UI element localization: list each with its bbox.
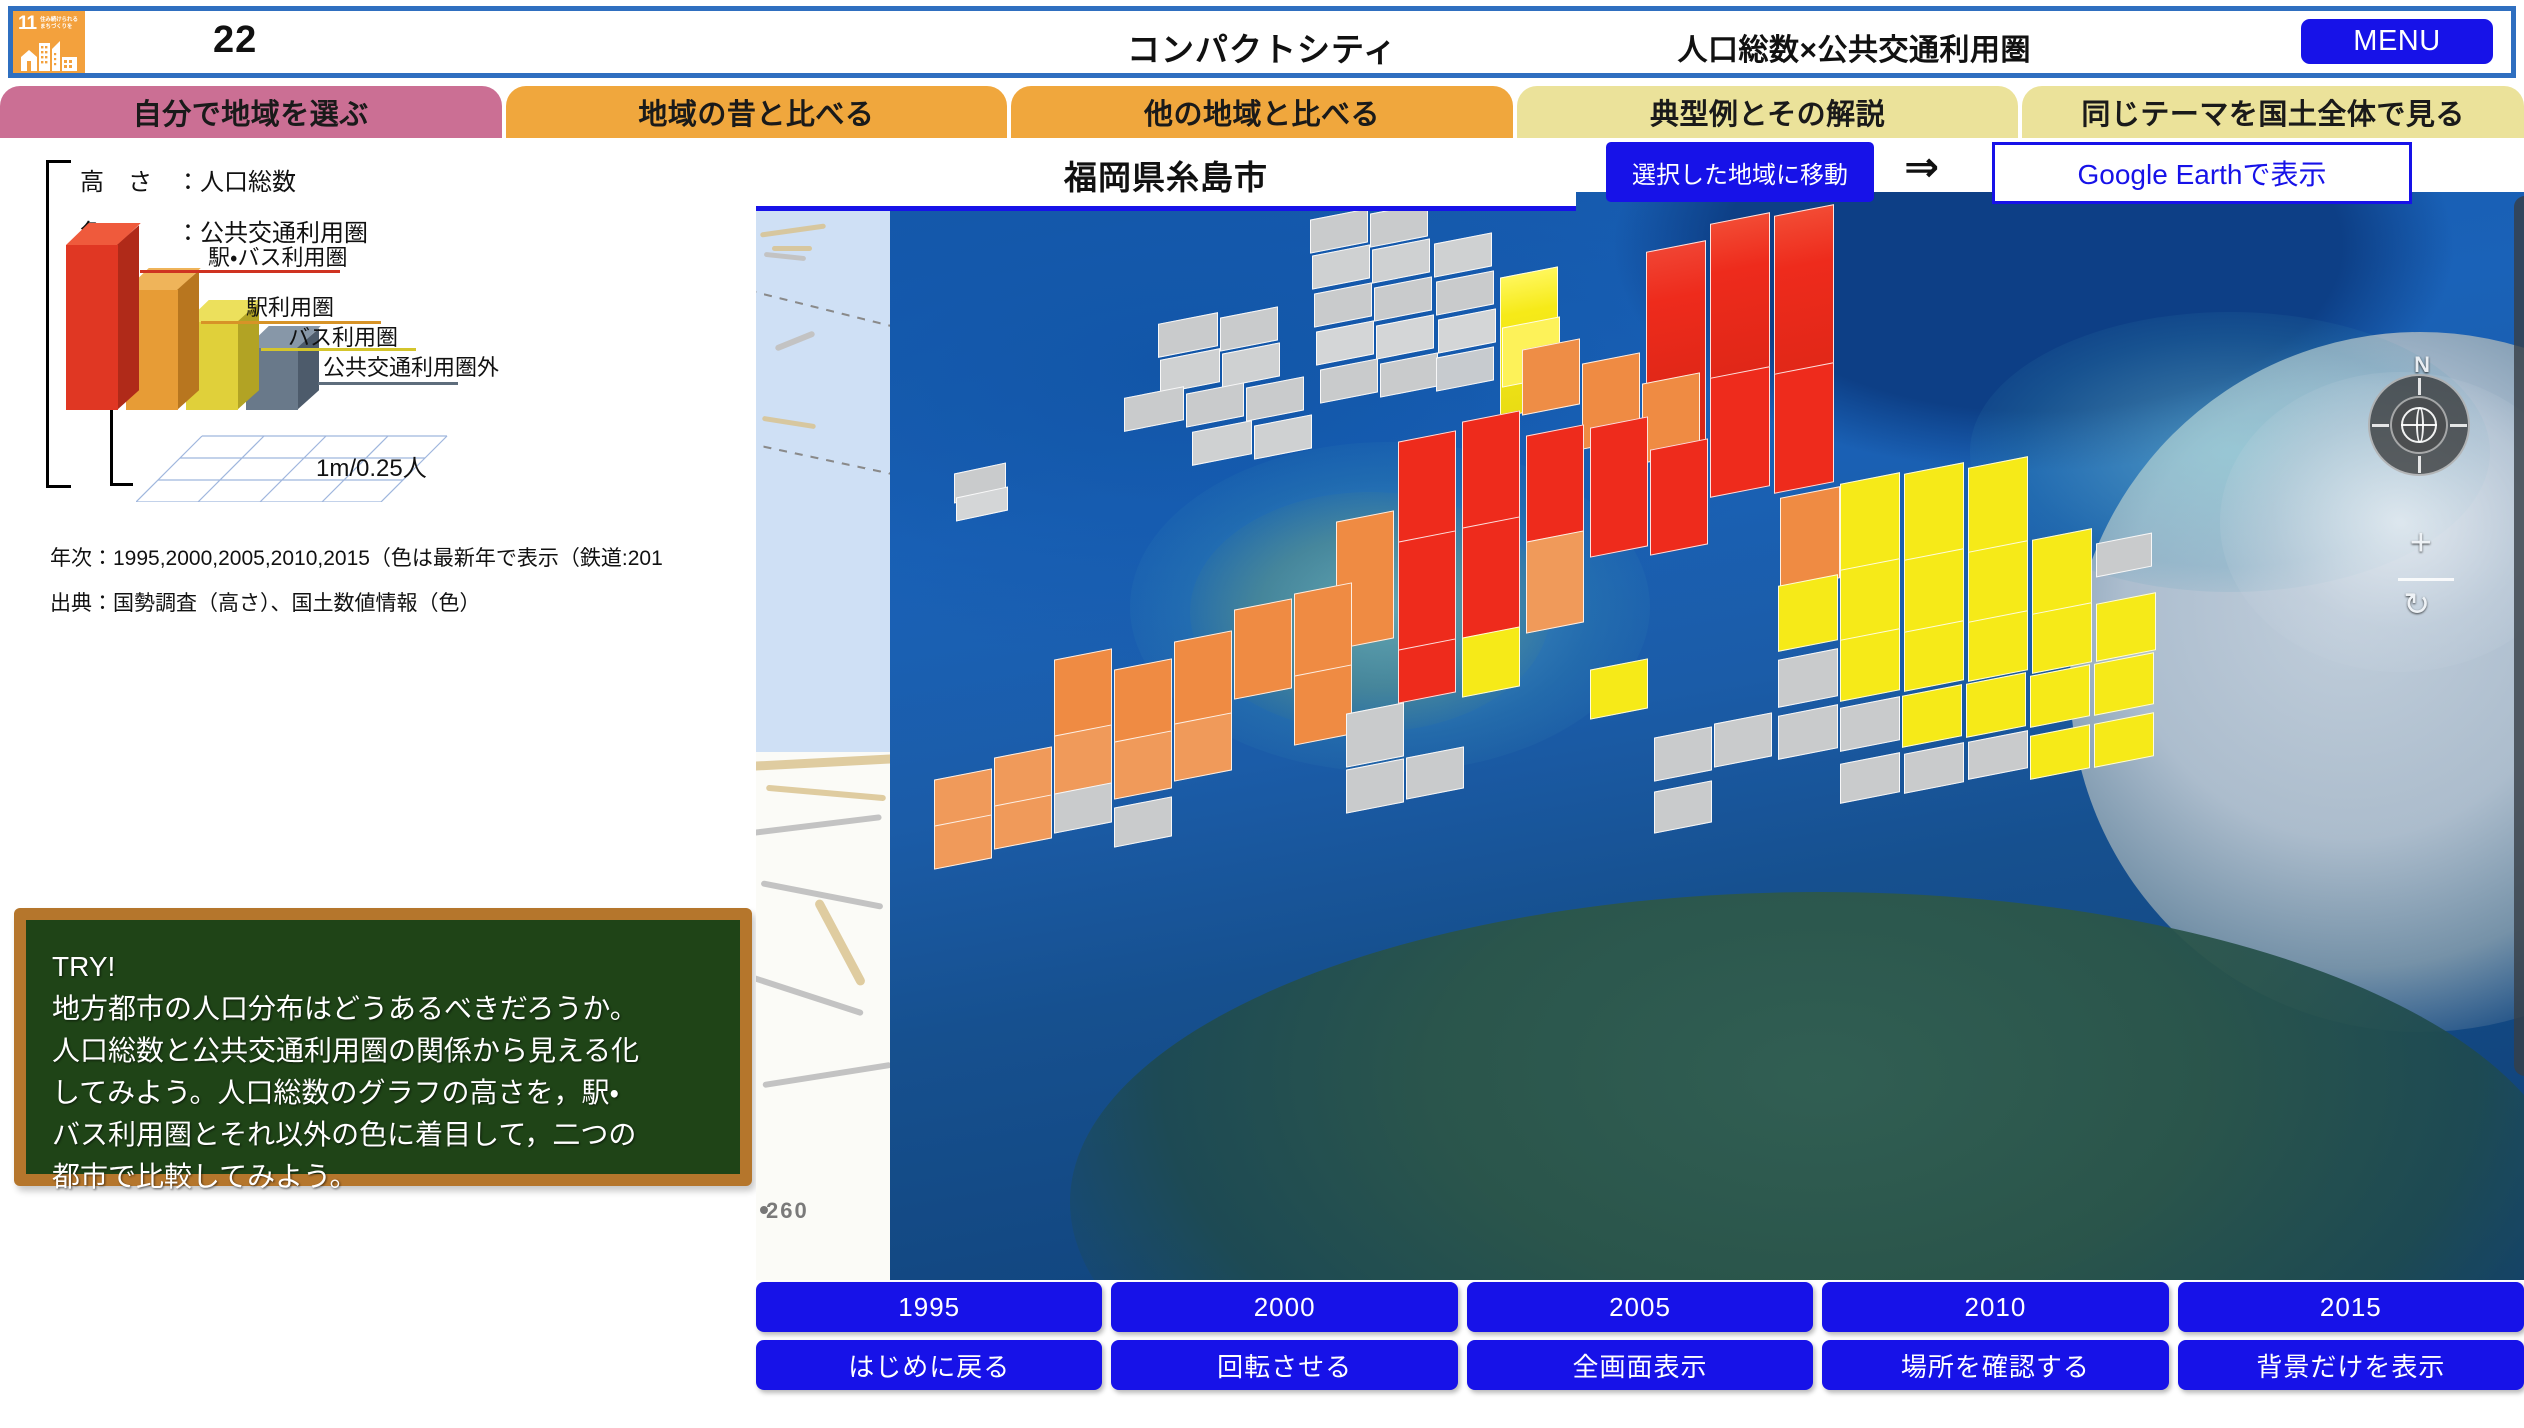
compass-globe-icon [2401, 407, 2437, 443]
population-cell[interactable] [1714, 712, 1772, 767]
map-area: 福岡県糸島市 選択した地域に移動 ⇒ Google Earthで表示 [756, 140, 2524, 1280]
compass-control[interactable] [2368, 374, 2470, 476]
population-cell[interactable] [1398, 638, 1456, 703]
map-scrollbar-thumb[interactable] [2514, 196, 2524, 1076]
population-cell[interactable] [1780, 486, 1840, 590]
population-cell[interactable] [1650, 438, 1708, 555]
topographic-map-strip: 260 [756, 192, 890, 1280]
year-button-2005[interactable]: 2005 [1467, 1282, 1813, 1332]
check-location-button[interactable]: 場所を確認する [1822, 1340, 2168, 1390]
population-cell[interactable] [1246, 376, 1304, 421]
year-button-2010[interactable]: 2010 [1822, 1282, 2168, 1332]
year-button-2000[interactable]: 2000 [1111, 1282, 1457, 1332]
earth-viewport[interactable]: 260 [756, 192, 2524, 1280]
population-cell[interactable] [1654, 780, 1712, 833]
population-cell[interactable] [1902, 684, 1962, 748]
population-cell[interactable] [1314, 282, 1372, 327]
topo-point-icon [760, 1206, 768, 1214]
app-root: 11 住み続けられる まちづくりを [0, 0, 2524, 1428]
compass-tick-w [2372, 424, 2389, 427]
google-earth-button[interactable]: Google Earthで表示 [1992, 142, 2412, 204]
year-button-1995[interactable]: 1995 [756, 1282, 1102, 1332]
population-cell[interactable] [1968, 730, 2028, 780]
population-cell[interactable] [1316, 320, 1374, 365]
map-toolbar: 福岡県糸島市 選択した地域に移動 ⇒ Google Earthで表示 [756, 140, 2524, 218]
population-cell[interactable] [1840, 628, 1900, 702]
population-cell[interactable] [1434, 232, 1492, 277]
population-cell[interactable] [1840, 696, 1900, 752]
legend-label-out: 公共交通利用圏外 [323, 350, 499, 382]
population-cell[interactable] [1114, 796, 1172, 847]
population-cell[interactable] [1774, 362, 1834, 494]
population-cell[interactable] [1590, 416, 1648, 557]
legend-3d-chart: 駅・バス利用圏 駅利用圏 バス利用圏 公共交通利用圏外 1m/0.25人 [18, 230, 760, 510]
population-cell[interactable] [1904, 620, 1964, 692]
population-cell[interactable] [1294, 664, 1352, 745]
goto-region-button[interactable]: 選択した地域に移動 [1606, 142, 1874, 202]
population-cell[interactable] [1376, 314, 1434, 359]
population-cell[interactable] [2096, 592, 2156, 662]
theme-title: 人口総数×公共交通利用圏 [1677, 25, 2031, 69]
population-cell[interactable] [1778, 574, 1838, 652]
map-scrollbar[interactable] [2514, 192, 2524, 1280]
legend-bar-station-bus [66, 245, 118, 410]
zoom-in-button[interactable]: + [2410, 524, 2432, 562]
page-title: コンパクトシティ [13, 23, 2511, 71]
zoom-slider-track[interactable] [2398, 578, 2454, 581]
satellite-imagery[interactable]: N + ↻ [890, 192, 2524, 1280]
fullscreen-button[interactable]: 全画面表示 [1467, 1340, 1813, 1390]
population-cell[interactable] [1526, 530, 1584, 633]
try-text: TRY! 地方都市の人口分布はどうあるべきだろうか。 人口総数と公共交通利用圏の… [52, 946, 714, 1198]
population-cell[interactable] [1192, 420, 1252, 466]
population-cell[interactable] [1966, 672, 2026, 738]
population-cell[interactable] [1462, 626, 1520, 697]
legend-block: 高 さ ：人口総数 色 ：公共交通利用圏 [18, 150, 760, 750]
population-cell[interactable] [2032, 602, 2092, 674]
population-cell[interactable] [1778, 648, 1838, 708]
population-cell[interactable] [1346, 702, 1404, 767]
population-cell[interactable] [1234, 598, 1292, 699]
scale-unit-label: 1m/0.25人 [316, 448, 427, 483]
reset-view-button[interactable]: ↻ [2403, 588, 2430, 620]
tab-select-region[interactable]: 自分で地域を選ぶ [0, 86, 502, 138]
tab-typical-example[interactable]: 典型例とその解説 [1517, 86, 2019, 138]
legend-panel: 高 さ ：人口総数 色 ：公共交通利用圏 [0, 140, 760, 1428]
population-cell[interactable] [1320, 358, 1378, 403]
app-header: 11 住み続けられる まちづくりを [8, 6, 2516, 78]
topo-road [774, 330, 815, 351]
population-cell[interactable] [1522, 338, 1580, 415]
tab-nationwide[interactable]: 同じテーマを国土全体で見る [2022, 86, 2524, 138]
try-board-surface: TRY! 地方都市の人口分布はどうあるべきだろうか。 人口総数と公共交通利用圏の… [26, 920, 740, 1174]
action-button-row: はじめに戻る 回転させる 全画面表示 場所を確認する 背景だけを表示 [756, 1340, 2524, 1390]
population-cell[interactable] [1904, 742, 1964, 794]
topo-contour [762, 416, 816, 429]
population-cell[interactable] [1186, 382, 1244, 427]
topo-contour [760, 223, 826, 237]
topo-dash-line [756, 442, 890, 479]
topo-road [764, 252, 806, 261]
population-cell[interactable] [1968, 610, 2028, 682]
legend-label-station: 駅利用圏 [246, 290, 334, 322]
population-cell[interactable] [1590, 658, 1648, 719]
reset-to-start-button[interactable]: はじめに戻る [756, 1340, 1102, 1390]
population-cell[interactable] [1778, 704, 1838, 760]
region-name-field[interactable]: 福岡県糸島市 [756, 144, 1576, 206]
year-button-row: 1995 2000 2005 2010 2015 [756, 1282, 2524, 1332]
background-only-button[interactable]: 背景だけを表示 [2178, 1340, 2524, 1390]
years-note: 年次：1995,2000,2005,2010,2015（色は最新年で表示（鉄道:… [50, 542, 663, 572]
bar-side-face [117, 225, 139, 410]
compass-tick-n [2418, 378, 2421, 395]
population-cell[interactable] [1374, 276, 1432, 321]
legend-height-label: 高 さ ：人口総数 [80, 162, 296, 197]
topo-contour [772, 246, 812, 251]
right-arrow-icon: ⇒ [1904, 146, 1939, 188]
topo-elevation-label: 260 [766, 1198, 809, 1224]
population-cell[interactable] [1436, 270, 1494, 315]
bar-front-face [66, 245, 118, 410]
leader-line-grey [318, 382, 458, 385]
tab-bar: 自分で地域を選ぶ 地域の昔と比べる 他の地域と比べる 典型例とその解説 同じテー… [0, 86, 2524, 138]
compass-tick-s [2418, 456, 2421, 473]
population-cell[interactable] [1436, 346, 1494, 391]
topo-dash-line [756, 289, 890, 332]
year-button-2015[interactable]: 2015 [2178, 1282, 2524, 1332]
population-cell[interactable] [1380, 352, 1438, 397]
legend-label-station-bus: 駅・バス利用圏 [208, 240, 347, 272]
population-cell[interactable] [1114, 730, 1172, 799]
region-name-text: 福岡県糸島市 [1064, 151, 1268, 199]
bottom-controls: 1995 2000 2005 2010 2015 はじめに戻る 回転させる 全画… [756, 1282, 2524, 1422]
population-cell[interactable] [1710, 366, 1770, 498]
compass-tick-e [2450, 424, 2467, 427]
tab-compare-region[interactable]: 他の地域と比べる [1011, 86, 1513, 138]
population-cell[interactable] [1174, 712, 1232, 781]
population-cell[interactable] [1840, 752, 1900, 804]
legend-label-bus: バス利用圏 [288, 320, 398, 352]
population-cell[interactable] [1124, 386, 1184, 432]
rotate-button[interactable]: 回転させる [1111, 1340, 1457, 1390]
source-note: 出典：国勢調査（高さ）、国土数値情報（色） [50, 587, 481, 617]
tab-compare-past[interactable]: 地域の昔と比べる [506, 86, 1008, 138]
bar-side-face [177, 270, 199, 410]
menu-button[interactable]: MENU [2301, 19, 2493, 64]
population-cell[interactable] [1654, 726, 1712, 781]
try-board: TRY! 地方都市の人口分布はどうあるべきだろうか。 人口総数と公共交通利用圏の… [14, 908, 752, 1186]
